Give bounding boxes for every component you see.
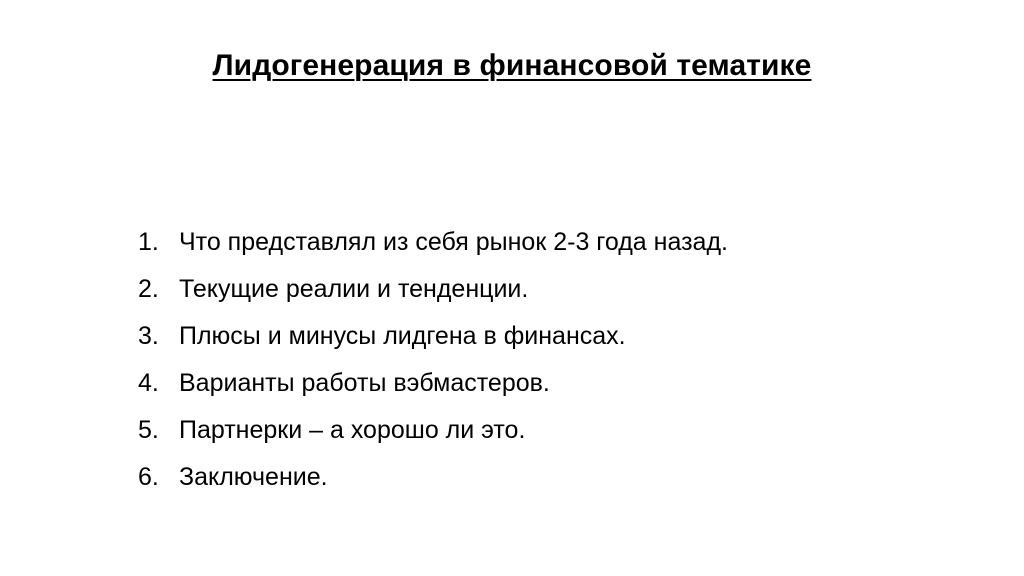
list-item: 5. Партнерки – а хорошо ли это. — [138, 414, 958, 461]
list-item-marker: 4. — [138, 367, 179, 399]
list-item-marker: 5. — [138, 414, 179, 446]
list-item-label: Плюсы и минусы лидгена в финансах. — [179, 320, 626, 352]
list-item-marker: 6. — [138, 461, 179, 493]
list-item-marker: 1. — [138, 226, 179, 258]
list-item: 6. Заключение. — [138, 461, 958, 508]
list-item-label: Партнерки – а хорошо ли это. — [179, 414, 525, 446]
page-title-text: Лидогенерация в финансовой тематике — [213, 49, 812, 82]
list-item-label: Что представлял из себя рынок 2-3 года н… — [179, 226, 728, 258]
list-item: 3. Плюсы и минусы лидгена в финансах. — [138, 320, 958, 367]
list-item: 4. Варианты работы вэбмастеров. — [138, 367, 958, 414]
slide-canvas: Лидогенерация в финансовой тематике 1. Ч… — [0, 0, 1024, 576]
numbered-agenda-list: 1. Что представлял из себя рынок 2-3 год… — [138, 226, 958, 508]
list-item-label: Текущие реалии и тенденции. — [179, 273, 528, 305]
list-item-label: Заключение. — [179, 461, 328, 493]
list-item-label: Варианты работы вэбмастеров. — [179, 367, 550, 399]
list-item-marker: 2. — [138, 273, 179, 305]
page-title: Лидогенерация в финансовой тематике — [0, 47, 1024, 85]
list-item: 1. Что представлял из себя рынок 2-3 год… — [138, 226, 958, 273]
list-item: 2. Текущие реалии и тенденции. — [138, 273, 958, 320]
list-item-marker: 3. — [138, 320, 179, 352]
